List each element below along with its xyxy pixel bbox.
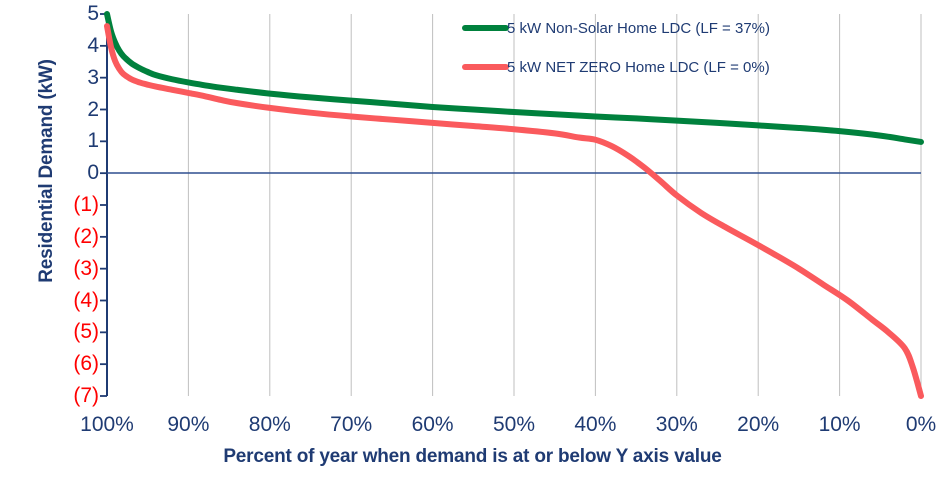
x-tick-label: 100% xyxy=(62,414,152,435)
y-tick-label: 5 xyxy=(47,3,99,24)
plot-area xyxy=(0,0,945,478)
x-tick-label: 10% xyxy=(795,414,885,435)
x-tick-label: 70% xyxy=(306,414,396,435)
legend-item-label-1: 5 kW NET ZERO Home LDC (LF = 0%) xyxy=(507,60,770,75)
load-duration-curve-chart: 543210(1)(2)(3)(4)(5)(6)(7) 100%90%80%70… xyxy=(0,0,945,478)
x-tick-label: 80% xyxy=(225,414,315,435)
x-tick-label: 40% xyxy=(550,414,640,435)
y-axis-title: Residential Demand (kW) xyxy=(36,36,58,306)
x-tick-label: 60% xyxy=(388,414,478,435)
y-tick-label: (6) xyxy=(47,353,99,374)
y-tick-label: (5) xyxy=(47,321,99,342)
legend-item-label-0: 5 kW Non-Solar Home LDC (LF = 37%) xyxy=(507,21,770,36)
x-tick-label: 20% xyxy=(713,414,803,435)
y-tick-label: (7) xyxy=(47,385,99,406)
x-tick-label: 0% xyxy=(876,414,945,435)
x-axis-title: Percent of year when demand is at or bel… xyxy=(0,446,945,468)
x-tick-label: 50% xyxy=(469,414,559,435)
x-tick-label: 30% xyxy=(632,414,722,435)
y-axis-ticks xyxy=(100,14,107,396)
x-tick-label: 90% xyxy=(143,414,233,435)
